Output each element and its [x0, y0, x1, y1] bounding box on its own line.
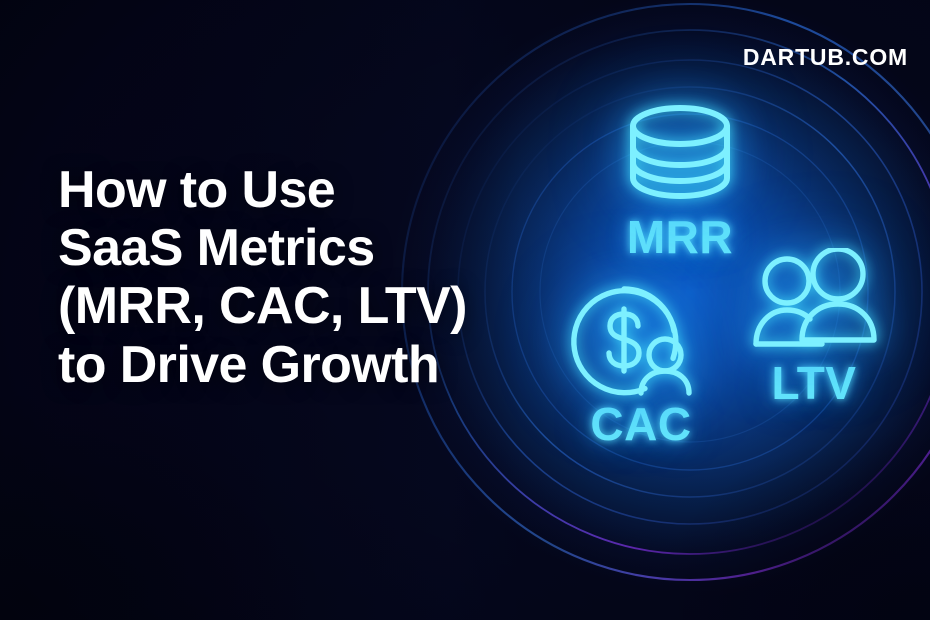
metric-label-cac: CAC — [590, 397, 691, 451]
brand-watermark: DARTUB.COM — [743, 44, 908, 71]
metric-label-mrr: MRR — [627, 210, 733, 264]
metric-badge-ltv: LTV — [748, 248, 880, 410]
metric-badge-mrr: MRR — [618, 100, 742, 264]
page-title: How to Use SaaS Metrics (MRR, CAC, LTV) … — [58, 161, 528, 394]
metric-label-ltv: LTV — [772, 356, 857, 410]
database-cylinder-icon — [618, 100, 742, 206]
two-people-group-icon — [748, 248, 880, 360]
dollar-circle-person-icon — [566, 281, 716, 399]
metric-badge-cac: CAC — [566, 281, 716, 451]
cover-canvas: How to Use SaaS Metrics (MRR, CAC, LTV) … — [0, 0, 930, 620]
